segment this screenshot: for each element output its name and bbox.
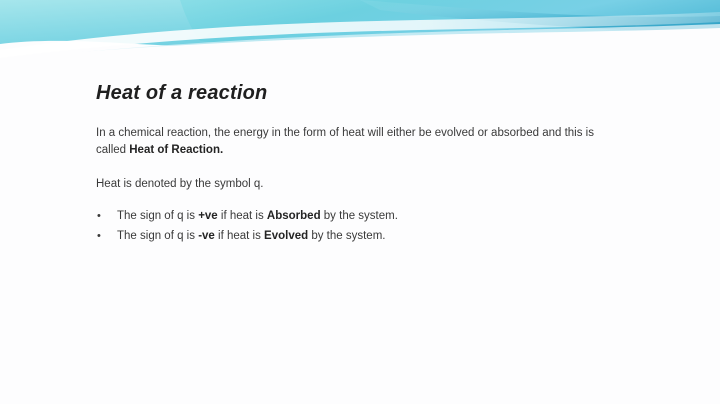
list-item: •The sign of q is +ve if heat is Absorbe… xyxy=(96,207,616,225)
slide-body: In a chemical reaction, the energy in th… xyxy=(96,125,616,247)
paragraph-definition-emphasis: Heat of Reaction. xyxy=(129,144,223,156)
wave-header-decoration xyxy=(0,0,720,70)
bullet-0-condition: Absorbed xyxy=(267,210,321,222)
wave-graphic-icon xyxy=(0,0,720,70)
bullet-point-icon: • xyxy=(97,207,101,225)
list-item: •The sign of q is -ve if heat is Evolved… xyxy=(96,227,616,245)
bullet-1-condition: Evolved xyxy=(264,230,308,242)
bullet-1-tail: by the system. xyxy=(308,230,385,242)
bullet-point-icon: • xyxy=(97,227,101,245)
sign-convention-list: •The sign of q is +ve if heat is Absorbe… xyxy=(96,207,616,245)
bullet-0-lead: The sign of q is xyxy=(117,210,198,222)
bullet-1-sign: -ve xyxy=(198,230,215,242)
bullet-0-sign: +ve xyxy=(198,210,218,222)
paragraph-symbol: Heat is denoted by the symbol q. xyxy=(96,176,616,193)
paragraph-definition: In a chemical reaction, the energy in th… xyxy=(96,125,616,159)
paragraph-symbol-text: Heat is denoted by the symbol q. xyxy=(96,178,264,190)
slide-canvas: Heat of a reaction In a chemical reactio… xyxy=(0,0,720,404)
bullet-1-lead: The sign of q is xyxy=(117,230,198,242)
bullet-0-mid: if heat is xyxy=(218,210,267,222)
bullet-1-mid: if heat is xyxy=(215,230,264,242)
slide-title: Heat of a reaction xyxy=(96,82,267,105)
bullet-0-tail: by the system. xyxy=(321,210,398,222)
